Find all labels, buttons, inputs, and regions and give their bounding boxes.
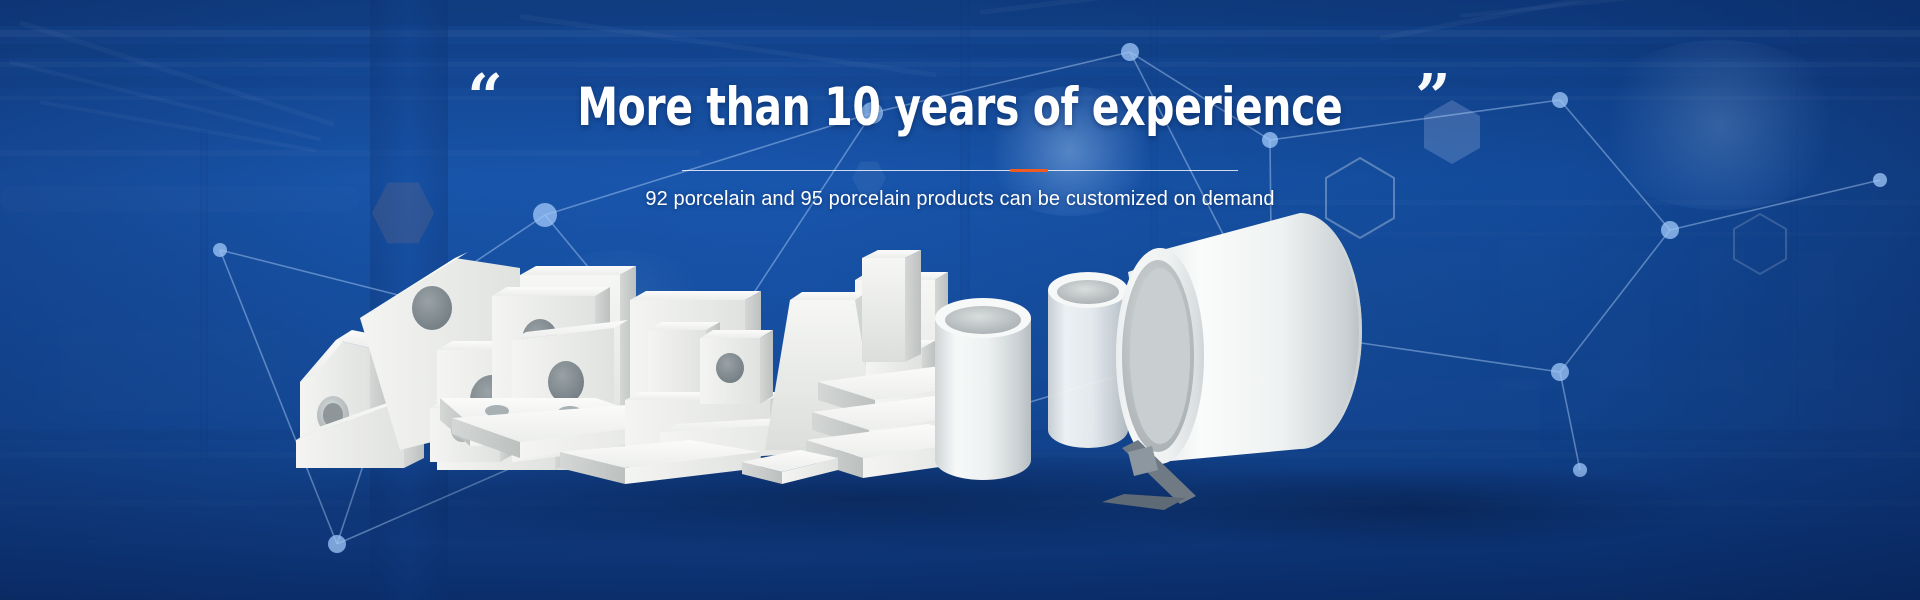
quote-close-icon: ” bbox=[1415, 66, 1451, 128]
product-cube-center bbox=[700, 330, 773, 404]
headline-row: “ More than 10 years of experience ” bbox=[515, 78, 1405, 138]
page-title: More than 10 years of experience bbox=[577, 78, 1342, 138]
quote-open-icon: “ bbox=[467, 66, 503, 128]
product-cylinder-large bbox=[1116, 213, 1362, 464]
product-cylinder-small bbox=[935, 298, 1031, 480]
divider-accent bbox=[1010, 169, 1048, 172]
product-cylinder-medium bbox=[1048, 272, 1128, 448]
divider bbox=[682, 170, 1238, 171]
hero-banner: “ More than 10 years of experience ” 92 … bbox=[0, 0, 1920, 600]
banner-copy: “ More than 10 years of experience ” 92 … bbox=[0, 78, 1920, 211]
page-subtitle: 92 porcelain and 95 porcelain products c… bbox=[0, 188, 1920, 211]
product-block-angled-right bbox=[862, 250, 921, 362]
